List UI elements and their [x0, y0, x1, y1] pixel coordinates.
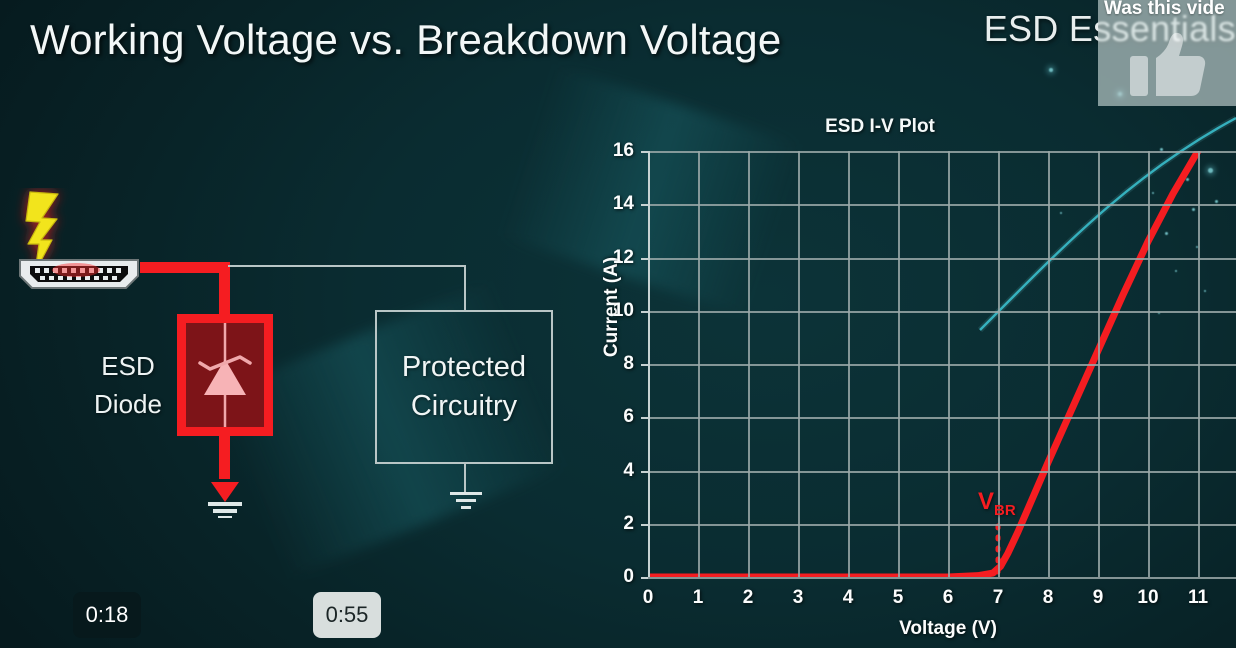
chart-x-tick-label: 7	[983, 587, 1013, 609]
chart-gridline-horizontal	[648, 204, 1236, 206]
surge-wire-vertical	[219, 262, 230, 318]
current-time-badge[interactable]: 0:18	[73, 592, 141, 638]
esd-diode-label-line1: ESD	[101, 351, 154, 381]
video-frame: Working Voltage vs. Breakdown Voltage ES…	[0, 0, 1236, 648]
chart-gridline-horizontal	[648, 151, 1236, 153]
page-title: Working Voltage vs. Breakdown Voltage	[30, 16, 781, 64]
ground-symbol-icon	[205, 468, 245, 518]
chart-x-tick-label: 5	[883, 587, 913, 609]
chart-y-tick-label: 10	[604, 300, 634, 322]
chart-y-tick-label: 14	[604, 193, 634, 215]
chart-x-tick-label: 9	[1083, 587, 1113, 609]
chart-x-tick-label: 1	[683, 587, 713, 609]
chart-title: ESD I-V Plot	[580, 116, 1180, 138]
signal-wire-vertical	[464, 265, 466, 311]
chart-x-tick-label: 0	[633, 587, 663, 609]
chart-gridline-horizontal	[648, 577, 1236, 579]
circuit-diagram: ESD Diode Protected Circuitry	[0, 180, 600, 540]
esd-diode-label: ESD Diode	[85, 348, 171, 423]
surge-wire-horizontal	[140, 262, 230, 273]
chart-y-tick-label: 0	[604, 566, 634, 588]
thumbs-up-icon[interactable]	[1128, 32, 1208, 100]
chart-y-tick-mark	[641, 204, 648, 206]
current-time-value: 0:18	[86, 602, 129, 628]
chart-y-tick-mark	[641, 577, 648, 579]
total-time-value: 0:55	[326, 602, 369, 628]
chart-x-tick-label: 4	[833, 587, 863, 609]
chart-plot-area: 01234567891011120246810121416VBR	[648, 151, 1236, 577]
chart-y-tick-mark	[641, 417, 648, 419]
esd-diode-component[interactable]	[177, 314, 273, 436]
chart-y-tick-mark	[641, 151, 648, 153]
tvs-zener-diode-icon	[186, 323, 264, 427]
vbr-sub: BR	[994, 502, 1016, 519]
chart-y-tick-mark	[641, 471, 648, 473]
esd-diode-label-line2: Diode	[94, 389, 162, 419]
chart-x-tick-label: 3	[783, 587, 813, 609]
chart-y-axis	[648, 151, 650, 577]
chart-y-tick-label: 6	[604, 406, 634, 428]
protected-label-line1: Protected	[402, 351, 526, 383]
chart-y-tick-mark	[641, 364, 648, 366]
chart-gridline-horizontal	[648, 258, 1236, 260]
protected-circuitry-label: Protected Circuitry	[402, 348, 526, 426]
chart-y-tick-label: 8	[604, 353, 634, 375]
signal-wire-horizontal	[228, 265, 466, 267]
chart-gridline-horizontal	[648, 364, 1236, 366]
chart-x-tick-label: 6	[933, 587, 963, 609]
chart-gridline-horizontal	[648, 471, 1236, 473]
chart-y-tick-mark	[641, 524, 648, 526]
chart-y-tick-label: 16	[604, 140, 634, 162]
chart-x-axis-label: Voltage (V)	[648, 618, 1236, 640]
breakdown-voltage-label: VBR	[978, 488, 1016, 519]
chart-gridline-horizontal	[648, 417, 1236, 419]
chart-y-tick-mark	[641, 311, 648, 313]
chart-y-tick-label: 4	[604, 460, 634, 482]
chart-x-tick-label: 2	[733, 587, 763, 609]
hdmi-connector-icon	[14, 256, 144, 292]
chart-x-tick-label: 11	[1183, 587, 1213, 609]
feedback-prompt: Was this vide	[1104, 0, 1225, 20]
chart-y-tick-label: 12	[604, 247, 634, 269]
vbr-main: V	[978, 488, 994, 515]
chart-y-tick-label: 2	[604, 513, 634, 535]
chart-x-tick-label: 8	[1033, 587, 1063, 609]
chart-gridline-horizontal	[648, 524, 1236, 526]
chart-y-tick-mark	[641, 258, 648, 260]
chart-gridline-horizontal	[648, 311, 1236, 313]
ground-symbol-icon-protected	[448, 490, 484, 520]
feedback-overlay-panel[interactable]: Was this vide	[1098, 0, 1236, 106]
protected-label-line2: Circuitry	[411, 390, 517, 422]
protected-circuitry-block[interactable]: Protected Circuitry	[375, 310, 553, 464]
iv-chart: ESD I-V Plot Current (A) Voltage (V) 012…	[580, 110, 1236, 648]
total-time-badge[interactable]: 0:55	[313, 592, 381, 638]
chart-x-tick-label: 10	[1133, 587, 1163, 609]
